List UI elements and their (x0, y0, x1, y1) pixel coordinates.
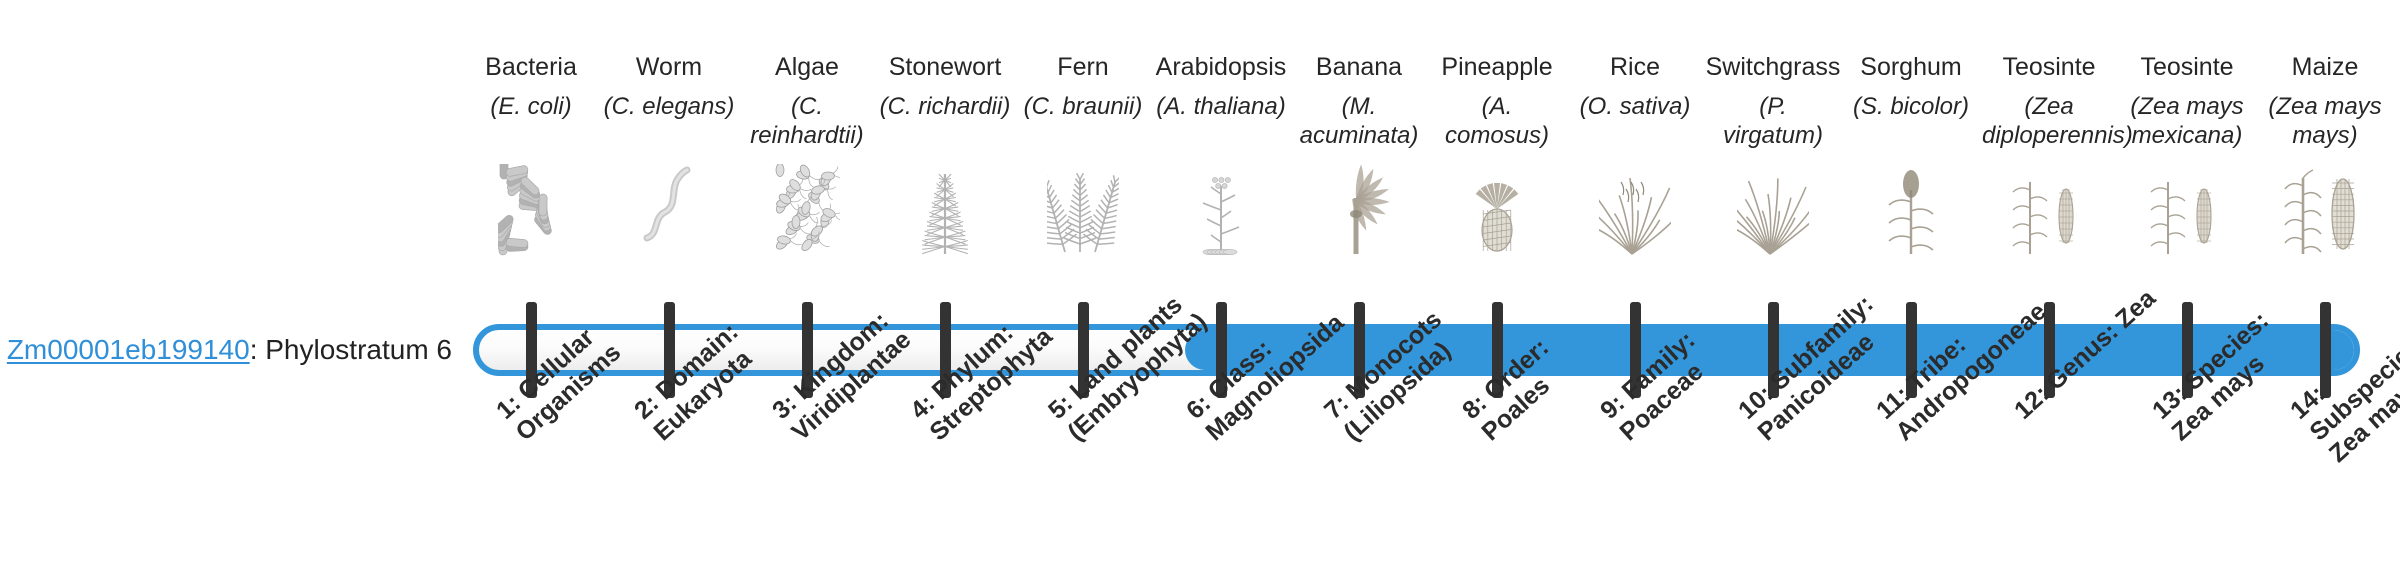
phylostratum-figure: Zm00001eb199140: Phylostratum 6 Bacteria… (0, 0, 2400, 580)
gene-label-separator: : (250, 334, 266, 365)
gene-id-link[interactable]: Zm00001eb199140 (7, 334, 250, 365)
gene-phylostratum-label: Zm00001eb199140: Phylostratum 6 (0, 336, 452, 364)
taxonomy-labels: 1: Cellular Organisms2: Domain: Eukaryot… (473, 0, 2360, 580)
phylostratum-value: Phylostratum 6 (265, 334, 452, 365)
